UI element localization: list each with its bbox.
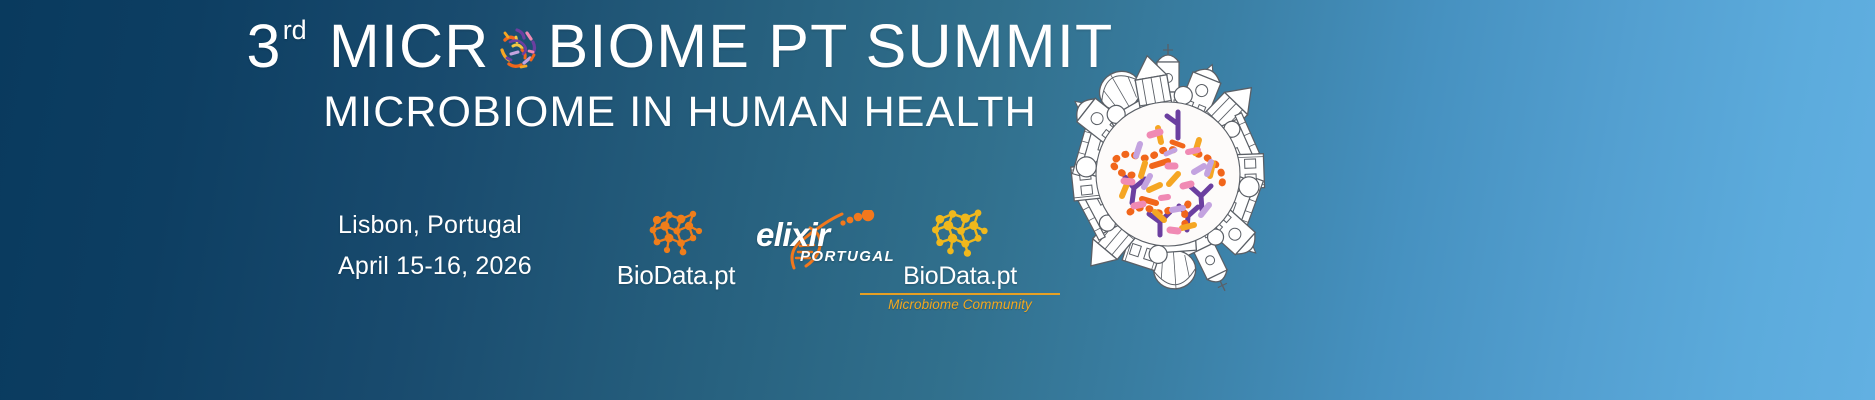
conference-banner: 3rd MICR <box>0 0 1875 400</box>
logo-biodata-pt[interactable]: BioData.pt <box>612 208 740 291</box>
event-location: Lisbon, Portugal <box>338 205 532 246</box>
ordinal-suffix: rd <box>283 15 307 45</box>
title-segment-before-icon: MICR <box>311 12 490 80</box>
event-meta: Lisbon, Portugal April 15-16, 2026 <box>338 205 532 286</box>
molecule-network-icon <box>643 208 709 258</box>
logo-biodata-pt-label: BioData.pt <box>612 260 740 291</box>
ordinal-number: 3 <box>247 12 282 80</box>
molecule-network-icon <box>925 206 995 260</box>
microbiome-circle-icon <box>491 20 547 76</box>
event-dates: April 15-16, 2026 <box>338 246 532 287</box>
lisbon-skyline-microbiome-circle <box>1002 6 1334 338</box>
main-title: 3rd MICR <box>247 14 1114 79</box>
